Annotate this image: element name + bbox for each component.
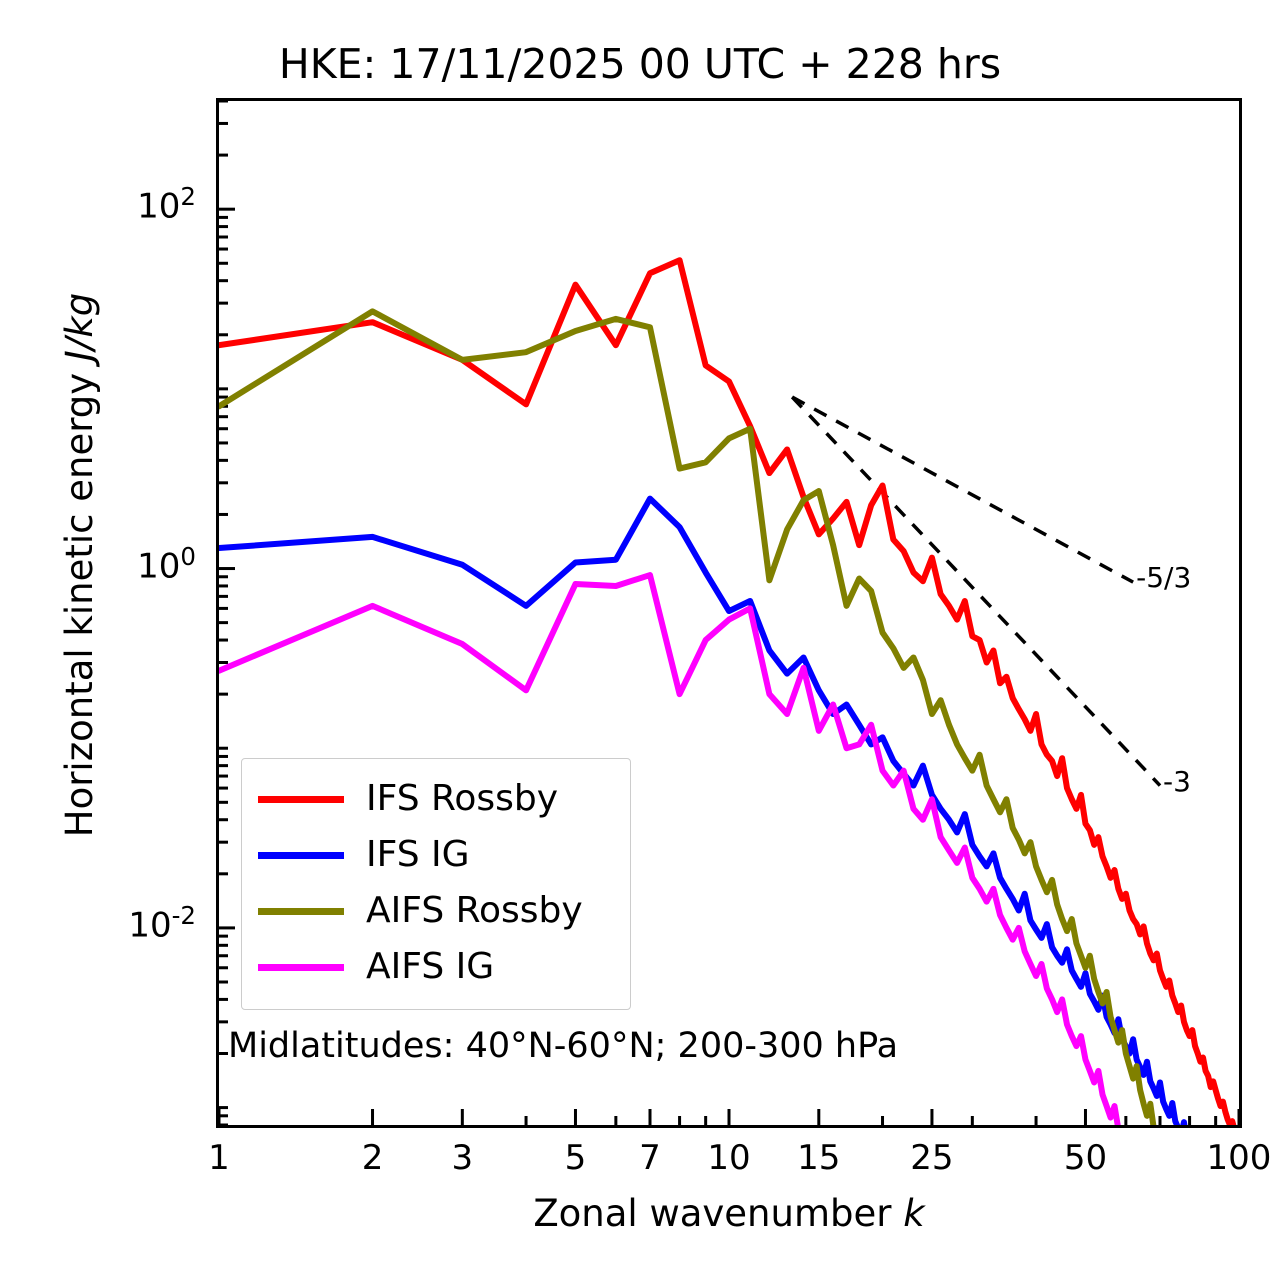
legend-item-label: IFS Rossby	[366, 781, 558, 817]
figure-canvas: HKE: 17/11/2025 00 UTC + 228 hrs Horizon…	[0, 0, 1280, 1288]
legend-item[interactable]: AIFS IG	[258, 939, 614, 995]
region-annotation: Midlatitudes: 40°N-60°N; 200-300 hPa	[228, 1026, 898, 1066]
legend-item-label: IFS IG	[366, 837, 470, 873]
legend-item-label: AIFS Rossby	[366, 893, 583, 929]
x-tick-label: 25	[910, 1138, 953, 1178]
x-axis-label: Zonal wavenumber k	[216, 1192, 1242, 1235]
x-tick-label: 10	[707, 1138, 750, 1178]
x-axis-label-text: Zonal wavenumber	[533, 1192, 903, 1235]
reference-slope-label: -5/3	[1136, 561, 1191, 594]
y-tick-label: 100	[137, 542, 196, 586]
legend: IFS RossbyIFS IGAIFS RossbyAIFS IG	[241, 758, 631, 1010]
x-tick-label: 2	[362, 1138, 384, 1178]
legend-color-swatch	[258, 964, 344, 971]
x-tick-label: 100	[1207, 1138, 1272, 1178]
legend-item[interactable]: AIFS Rossby	[258, 883, 614, 939]
page-title: HKE: 17/11/2025 00 UTC + 228 hrs	[0, 40, 1280, 88]
legend-color-swatch	[258, 908, 344, 915]
x-axis-label-symbol: k	[903, 1192, 924, 1235]
x-tick-label: 5	[565, 1138, 587, 1178]
x-tick-label: 1	[208, 1138, 230, 1178]
y-tick-label: 102	[137, 182, 196, 226]
y-axis-label-text: Horizontal kinetic energy	[58, 361, 101, 837]
x-tick-label: 50	[1064, 1138, 1107, 1178]
y-axis-label-units: J/kg	[58, 293, 101, 361]
x-tick-label: 15	[797, 1138, 840, 1178]
legend-color-swatch	[258, 796, 344, 803]
x-tick-label: 7	[639, 1138, 661, 1178]
x-tick-label: 3	[452, 1138, 474, 1178]
reference-slope-line--5-3	[792, 397, 1133, 582]
reference-slope-line--3	[792, 397, 1160, 785]
legend-item[interactable]: IFS Rossby	[258, 771, 614, 827]
y-tick-label: 10-2	[128, 901, 196, 945]
y-axis-label: Horizontal kinetic energy J/kg	[58, 45, 118, 1085]
legend-item[interactable]: IFS IG	[258, 827, 614, 883]
legend-color-swatch	[258, 852, 344, 859]
reference-slope-label: -3	[1163, 765, 1191, 798]
legend-item-label: AIFS IG	[366, 949, 494, 985]
